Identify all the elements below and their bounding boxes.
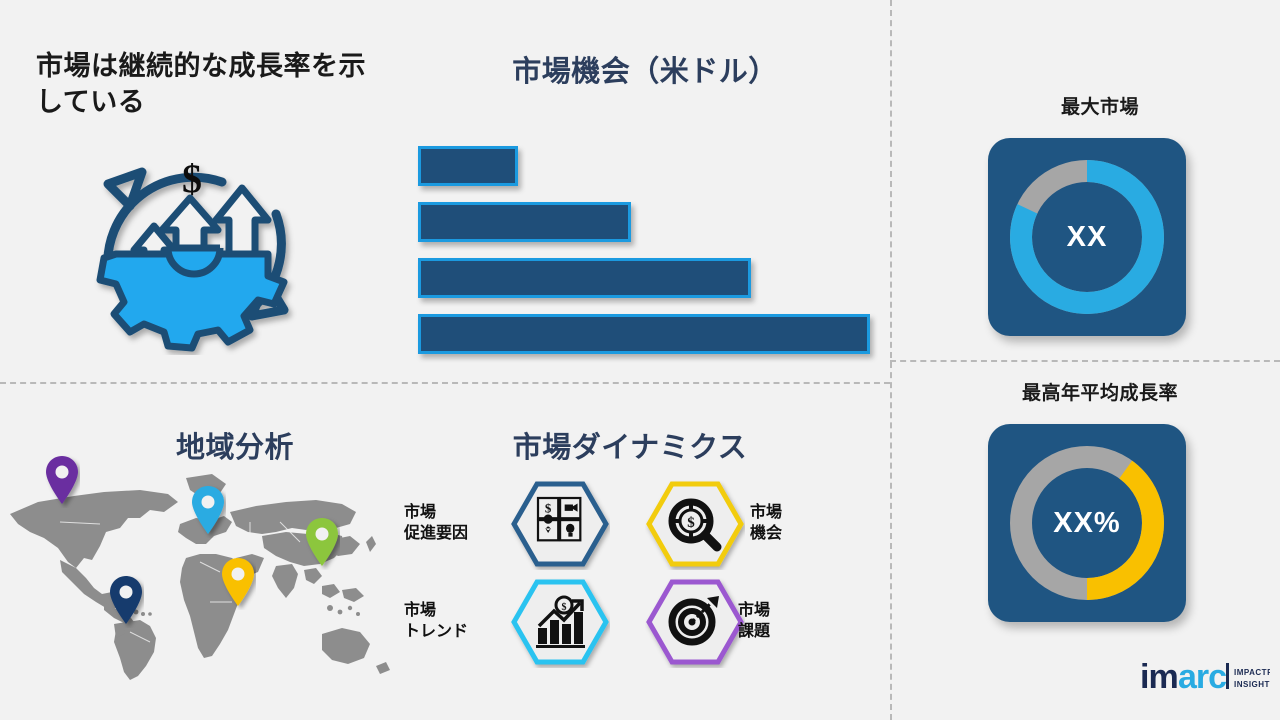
- regional-panel-title: 地域分析: [120, 424, 350, 466]
- dynamics-cell-opportunities[interactable]: $ 市場 機会: [635, 478, 870, 570]
- logo-brand-prefix: im: [1140, 658, 1178, 696]
- horizontal-divider: [0, 382, 890, 384]
- pin-north-america: [44, 454, 80, 513]
- dynamics-label-trends-line1: 市場: [404, 602, 436, 619]
- dynamics-cell-trends[interactable]: 市場 トレンド: [400, 576, 635, 668]
- dynamics-cell-challenges[interactable]: 市場 課題: [635, 576, 870, 668]
- bar-3: [418, 258, 751, 298]
- largest-market-label: 最大市場: [950, 92, 1250, 119]
- hexagon-opportunities: $: [645, 478, 745, 575]
- growth-panel-title: 市場は継続的な成長率を示している: [36, 48, 386, 121]
- logo-tagline-line2: INSIGHTS: [1234, 680, 1270, 689]
- growth-cycle-gear-icon: $: [72, 130, 312, 360]
- dynamics-label-trends: 市場 トレンド: [404, 601, 504, 643]
- bar-2: [418, 202, 631, 242]
- svg-text:$: $: [182, 156, 202, 201]
- infographic-slide: 市場は継続的な成長率を示している $: [0, 0, 1280, 720]
- svg-text:$: $: [562, 602, 567, 613]
- market-dynamics-grid: 市場 促進要因 $: [400, 478, 870, 668]
- logo-divider: [1226, 663, 1229, 689]
- right-column-divider: [890, 360, 1280, 362]
- hexagon-trends: $: [510, 576, 610, 673]
- dynamics-cell-drivers[interactable]: 市場 促進要因 $: [400, 478, 635, 570]
- hexagon-drivers: $: [510, 478, 610, 575]
- highest-cagr-card: XX%: [988, 424, 1186, 622]
- pin-south-america: [108, 574, 144, 633]
- dynamics-label-opportunities: 市場 機会: [750, 503, 850, 545]
- imarc-logo: im arc IMPACTFUL INSIGHTS: [1140, 655, 1270, 706]
- hexagon-challenges: [645, 576, 745, 673]
- bar-4: [418, 314, 870, 354]
- dynamics-label-trends-line2: トレンド: [404, 623, 468, 640]
- dynamics-panel-title: 市場ダイナミクス: [430, 424, 830, 466]
- dynamics-label-drivers: 市場 促進要因: [404, 503, 504, 545]
- opportunity-panel-title: 市場機会（米ドル）: [410, 48, 880, 90]
- dynamics-label-challenges-line1: 市場: [738, 602, 770, 619]
- dynamics-label-opportunities-line2: 機会: [750, 525, 782, 542]
- dynamics-label-challenges: 市場 課題: [738, 601, 838, 643]
- dynamics-label-opportunities-line1: 市場: [750, 504, 782, 521]
- pin-europe: [190, 484, 226, 543]
- svg-text:$: $: [545, 502, 552, 516]
- logo-tagline-line1: IMPACTFUL: [1234, 668, 1270, 677]
- market-opportunity-bar-chart: [418, 146, 878, 356]
- svg-text:$: $: [687, 515, 695, 531]
- largest-market-card: XX: [988, 138, 1186, 336]
- bar-1: [418, 146, 518, 186]
- highest-cagr-donut: [988, 424, 1186, 622]
- dynamics-label-drivers-line1: 市場: [404, 504, 436, 521]
- logo-brand-suffix: arc: [1178, 658, 1226, 696]
- world-map: [0, 462, 400, 692]
- pin-asia: [304, 516, 340, 575]
- dynamics-label-drivers-line2: 促進要因: [404, 525, 468, 542]
- pin-middle-east-africa: [220, 556, 256, 615]
- largest-market-donut: [988, 138, 1186, 336]
- dynamics-label-challenges-line2: 課題: [738, 623, 770, 640]
- highest-cagr-label: 最高年平均成長率: [950, 378, 1250, 405]
